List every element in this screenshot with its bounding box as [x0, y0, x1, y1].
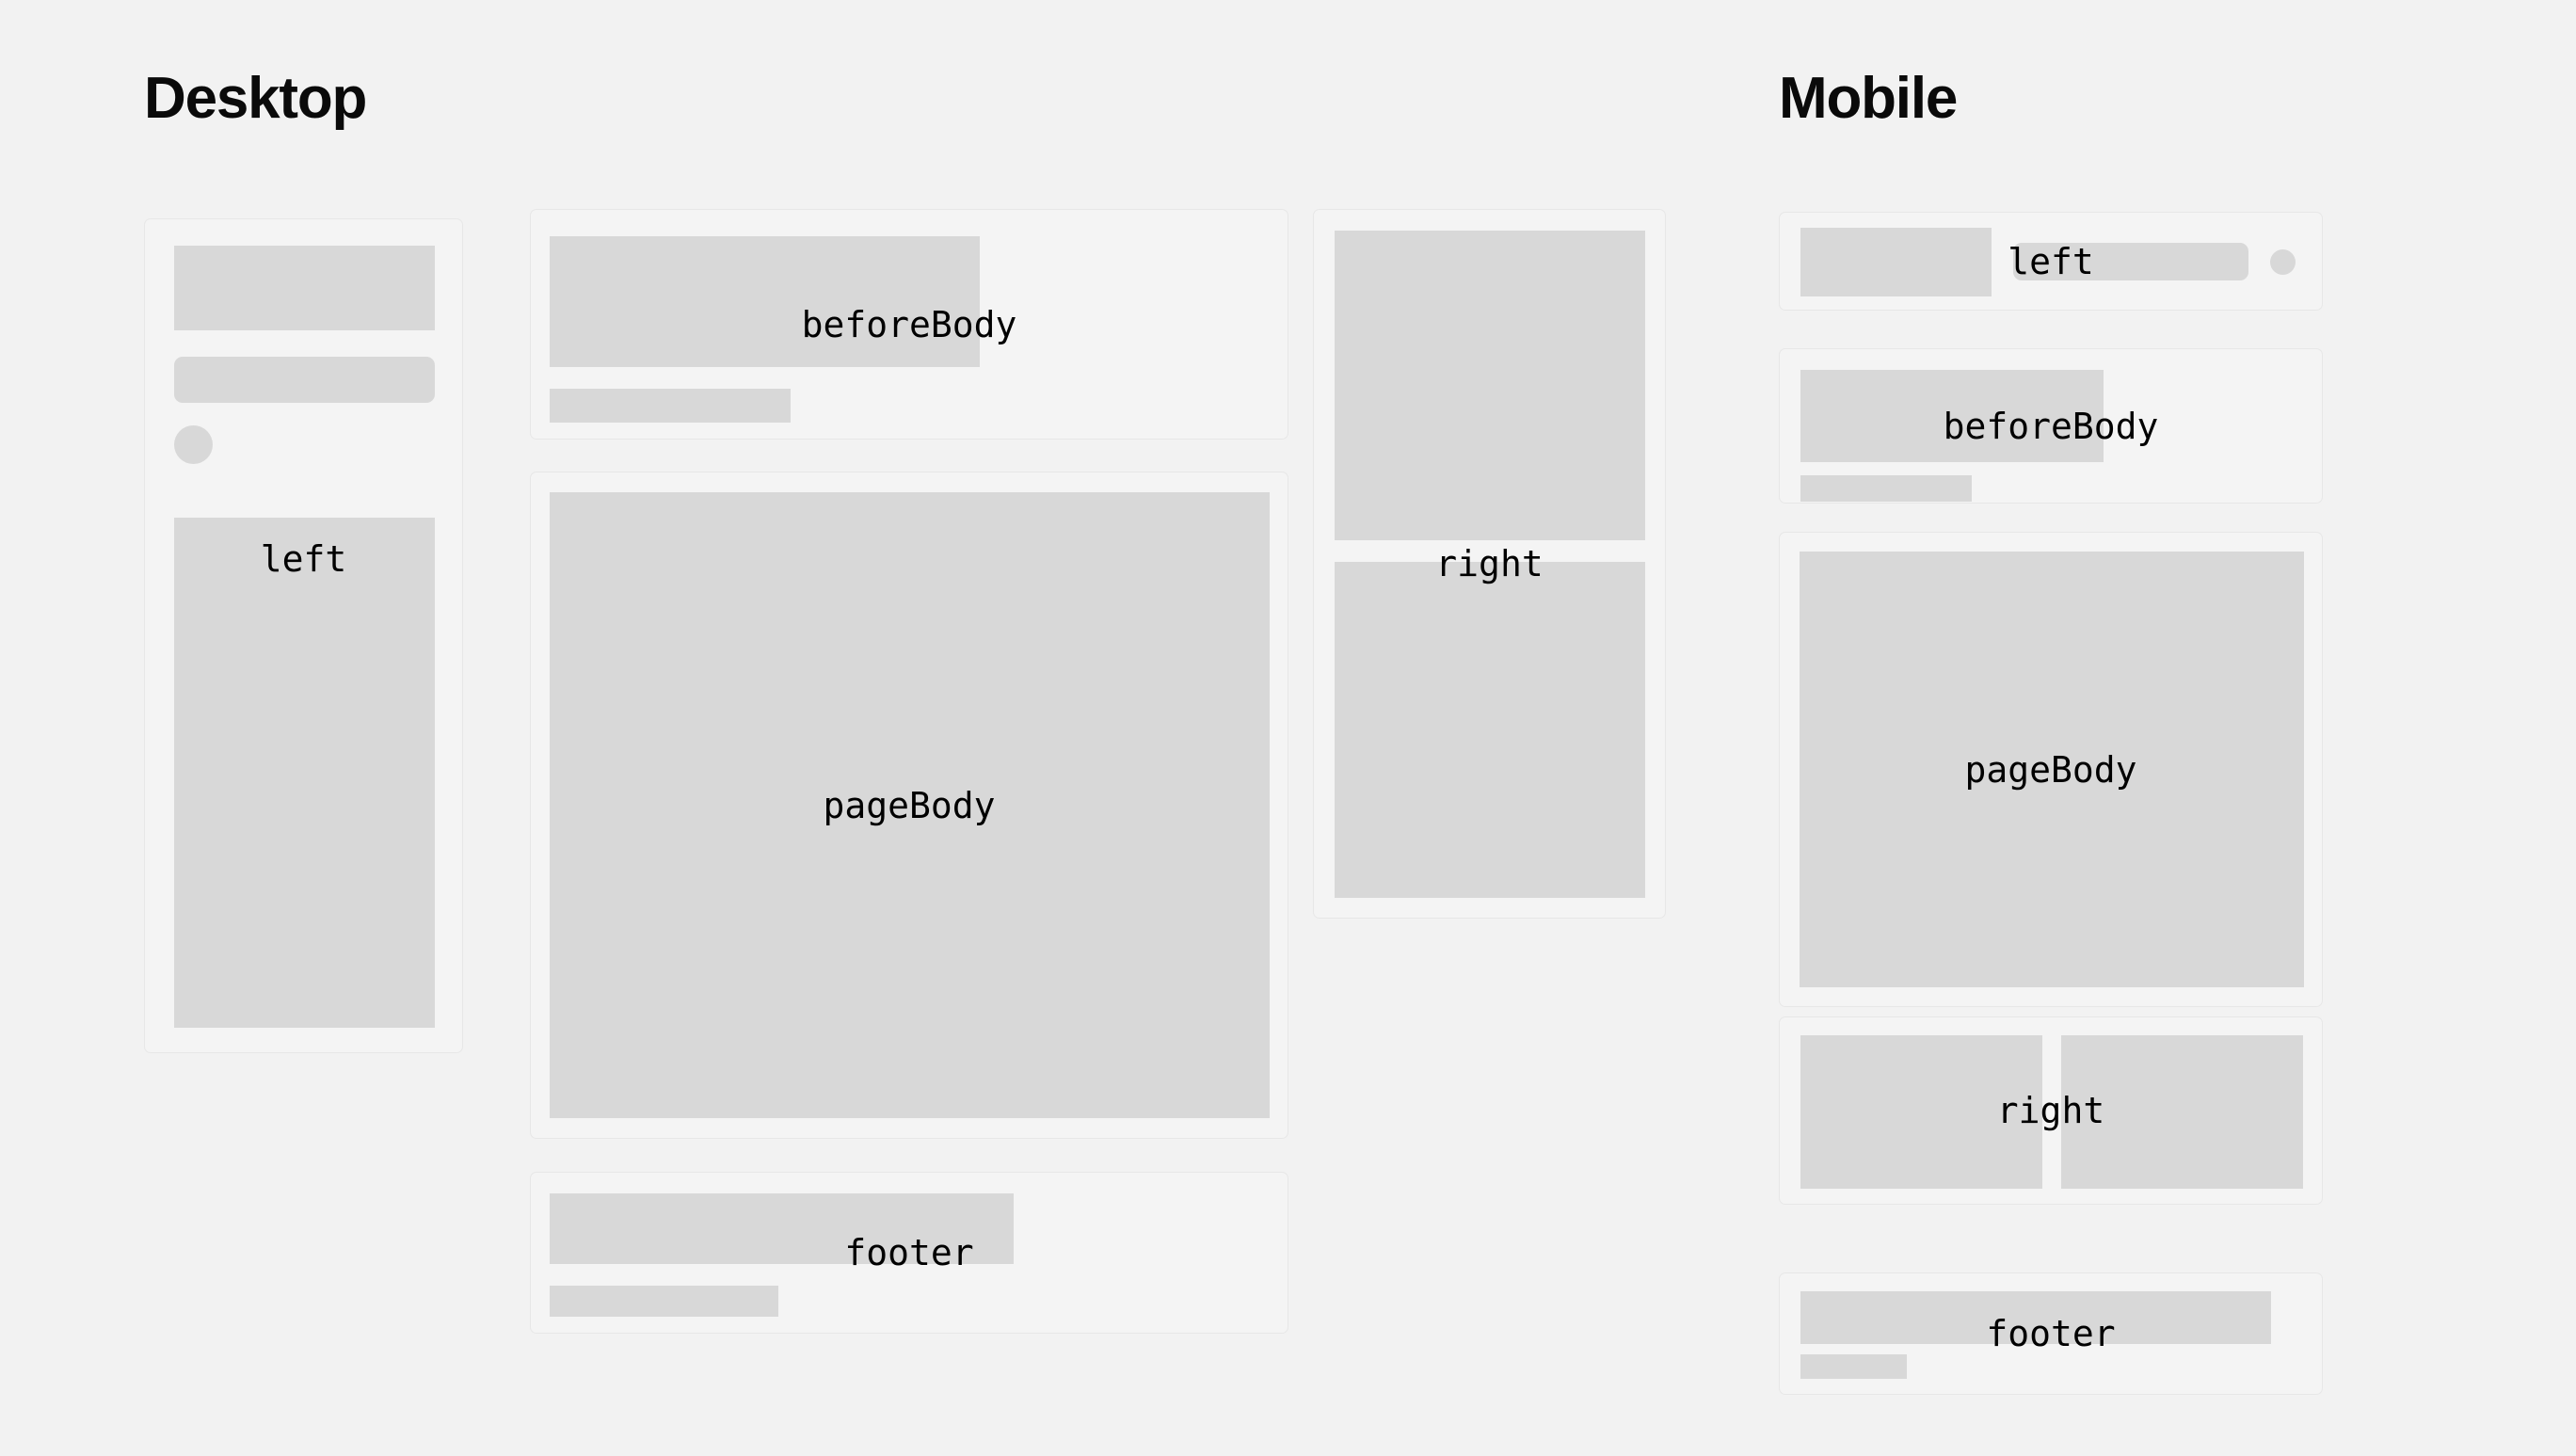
mobile-right-panel[interactable]: right: [1779, 1016, 2323, 1205]
skeleton-block-sub: [550, 389, 791, 423]
skeleton-block-main: [1800, 1291, 2271, 1344]
skeleton-block-sub: [550, 1286, 778, 1317]
desktop-footer-panel[interactable]: footer: [530, 1172, 1288, 1334]
skeleton-block-main: [550, 236, 980, 367]
skeleton-block-right: [2061, 1035, 2303, 1189]
skeleton-block-header: [174, 246, 435, 330]
skeleton-avatar-circle: [2270, 249, 2296, 275]
desktop-right-panel[interactable]: right: [1313, 209, 1666, 919]
skeleton-block-bottom: [1335, 562, 1645, 898]
skeleton-block-sub: [1800, 1354, 1907, 1379]
skeleton-bar: [174, 357, 435, 403]
skeleton-block-main: [550, 492, 1270, 1118]
desktop-left-panel[interactable]: left: [144, 218, 463, 1053]
mobile-beforebody-panel[interactable]: beforeBody: [1779, 348, 2323, 504]
skeleton-block-body: [174, 518, 435, 1028]
skeleton-block-main: [1800, 552, 2304, 987]
skeleton-block-left: [1800, 1035, 2042, 1189]
mobile-footer-panel[interactable]: footer: [1779, 1272, 2323, 1395]
mobile-left-panel[interactable]: left: [1779, 212, 2323, 311]
layout-preview-stage: Desktop Mobile left beforeBody pageBody …: [0, 0, 2576, 1456]
skeleton-block-main: [1800, 370, 2104, 462]
desktop-beforebody-panel[interactable]: beforeBody: [530, 209, 1288, 440]
mobile-pagebody-panel[interactable]: pageBody: [1779, 532, 2323, 1007]
skeleton-avatar-circle: [174, 425, 213, 464]
desktop-section-title: Desktop: [144, 70, 366, 128]
skeleton-block-sub: [1800, 475, 1972, 502]
mobile-section-title: Mobile: [1779, 70, 1957, 128]
skeleton-block-rect: [1800, 228, 1992, 296]
skeleton-block-main: [550, 1193, 1014, 1264]
desktop-pagebody-panel[interactable]: pageBody: [530, 472, 1288, 1139]
skeleton-block-top: [1335, 231, 1645, 540]
skeleton-bar: [2013, 243, 2248, 280]
